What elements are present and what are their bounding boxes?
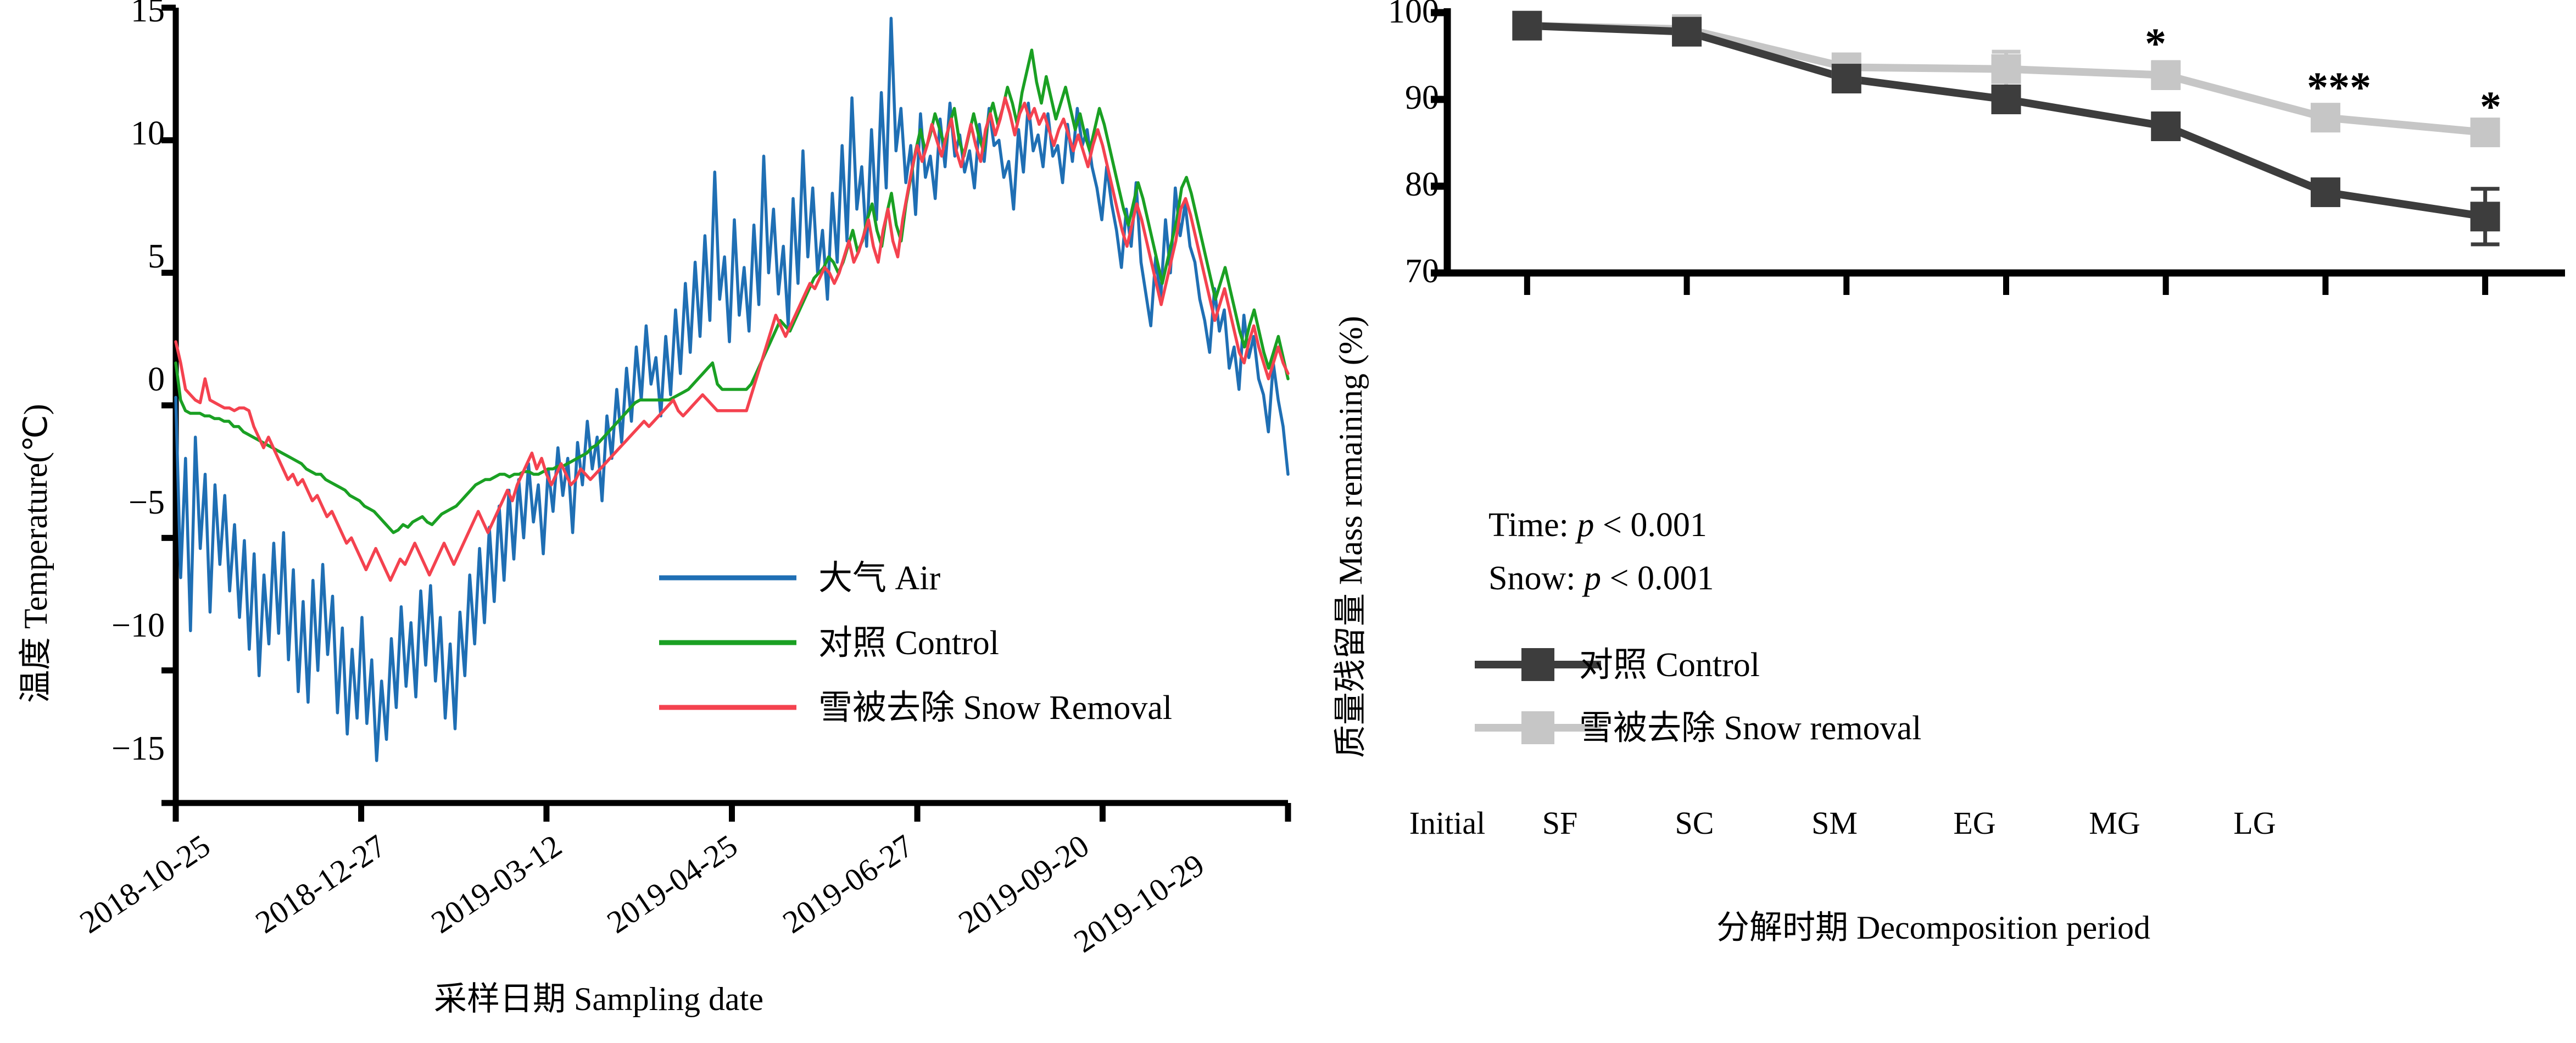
left-legend-label-air: 大气 Air [818, 561, 940, 595]
left-legend-label-snow-removal: 雪被去除 Snow Removal [818, 691, 1172, 725]
right-legend-label-snow-removal: 雪被去除 Snow removal [1579, 711, 1921, 745]
annotation-snow-italic-p: p [1584, 560, 1601, 597]
annotation-time-prefix: Time: [1488, 506, 1577, 544]
annotation-snow-prefix: Snow: [1488, 560, 1584, 597]
right-x-tick-6: LG [2192, 807, 2318, 839]
right-legend-label-control: 对照 Control [1579, 648, 1760, 682]
right-x-tick-3: SM [1771, 807, 1898, 839]
annotation-snow-p: Snow: p < 0.001 [1488, 561, 1714, 595]
right-x-tick-0: Initial [1384, 807, 1510, 839]
panel-temperature: 温度 Temperature(℃) 15 10 5 0 −5 −10 −15 2… [0, 0, 1307, 1043]
right-x-tick-4: EG [1911, 807, 2038, 839]
significance-mark-mg: *** [2307, 66, 2371, 109]
significance-mark-lg: * [2480, 85, 2501, 128]
annotation-time-p: Time: p < 0.001 [1488, 508, 1707, 542]
annotation-time-suffix: < 0.001 [1594, 506, 1707, 544]
left-legend-label-control: 对照 Control [818, 626, 999, 660]
significance-mark-eg: * [2145, 22, 2166, 65]
right-x-tick-1: SF [1497, 807, 1623, 839]
panel-mass-remaining: 质量残留量 Mass remaining (%) 100 90 80 70 Ti… [1307, 0, 2576, 1043]
right-x-tick-2: SC [1631, 807, 1758, 839]
left-x-axis-label: 采样日期 Sampling date [242, 972, 956, 1020]
right-x-tick-5: MG [2051, 807, 2178, 839]
annotation-time-italic-p: p [1577, 506, 1594, 544]
figure-root: 温度 Temperature(℃) 15 10 5 0 −5 −10 −15 2… [0, 0, 2576, 1043]
annotation-snow-suffix: < 0.001 [1601, 560, 1714, 597]
right-x-axis-label: 分解时期 Decomposition period [1549, 901, 2318, 949]
